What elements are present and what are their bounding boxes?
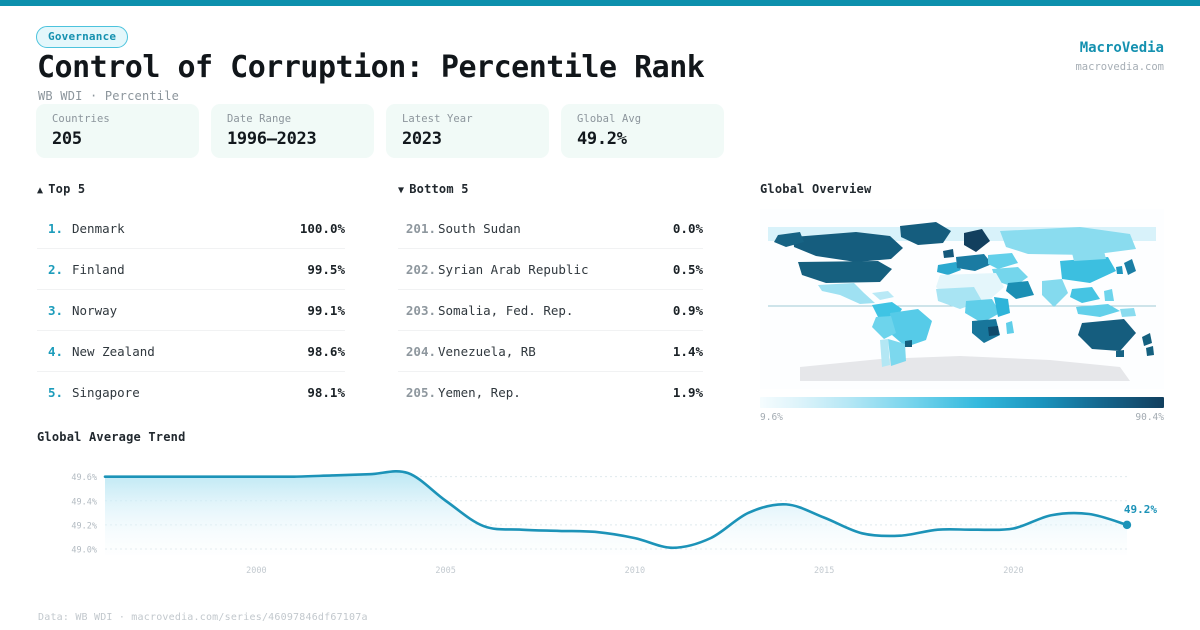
list-item[interactable]: 203. Somalia, Fed. Rep. 0.9% [398,290,703,331]
map-colorbar-labels: 9.6% 90.4% [760,412,1164,423]
country-name: New Zealand [72,344,307,359]
brand-url: macrovedia.com [1075,61,1164,73]
trend-chart-svg: 49.0%49.2%49.4%49.6% 2000200520102015202… [37,455,1167,590]
svg-text:49.2%: 49.2% [71,521,97,531]
colorbar-max-label: 90.4% [1135,412,1164,423]
svg-text:2005: 2005 [435,566,455,576]
country-value: 0.5% [673,262,703,277]
list-item[interactable]: 204. Venezuela, RB 1.4% [398,331,703,372]
bottom-5-panel: ▼Bottom 5 201. South Sudan 0.0% 202. Syr… [398,182,703,412]
svg-text:2000: 2000 [246,566,266,576]
rank-number: 205. [398,385,436,400]
category-badge: Governance [36,26,128,48]
page-subtitle: WB WDI · Percentile [38,89,179,103]
country-name: Norway [72,303,307,318]
top-5-title: Top 5 [48,182,85,196]
country-name: Denmark [72,221,300,236]
list-item[interactable]: 3. Norway 99.1% [37,290,345,331]
bottom-5-rows: 201. South Sudan 0.0% 202. Syrian Arab R… [398,208,703,412]
country-value: 1.4% [673,344,703,359]
country-value: 98.6% [307,344,345,359]
trend-title: Global Average Trend [37,430,1167,444]
rank-number: 1. [37,221,63,236]
bottom-5-heading: ▼Bottom 5 [398,182,703,196]
country-name: Yemen, Rep. [438,385,673,400]
stat-value: 205 [52,129,199,149]
stat-label: Date Range [227,113,374,125]
stat-card-latest-year: Latest Year 2023 [386,104,549,158]
triangle-up-icon: ▲ [37,185,43,196]
brand-logo: MacroVedia [1080,40,1164,56]
country-value: 100.0% [300,221,345,236]
list-item[interactable]: 4. New Zealand 98.6% [37,331,345,372]
list-item[interactable]: 205. Yemen, Rep. 1.9% [398,372,703,412]
top-5-rows: 1. Denmark 100.0% 2. Finland 99.5% 3. No… [37,208,345,412]
rank-number: 5. [37,385,63,400]
triangle-down-icon: ▼ [398,185,404,196]
country-name: Finland [72,262,307,277]
country-value: 98.1% [307,385,345,400]
stat-card-countries: Countries 205 [36,104,199,158]
trend-chart[interactable]: 49.0%49.2%49.4%49.6% 2000200520102015202… [37,455,1167,590]
rank-number: 2. [37,262,63,277]
map-svg [760,209,1164,389]
stat-label: Global Avg [577,113,724,125]
trend-panel: Global Average Trend 49.0%49.2%49.4%49.6… [37,430,1167,590]
country-name: Venezuela, RB [438,344,673,359]
country-value: 0.9% [673,303,703,318]
map-title: Global Overview [760,182,1164,196]
list-item[interactable]: 202. Syrian Arab Republic 0.5% [398,249,703,290]
page-title: Control of Corruption: Percentile Rank [37,50,704,85]
top-5-heading: ▲Top 5 [37,182,345,196]
svg-text:49.4%: 49.4% [71,497,97,507]
rank-number: 202. [398,262,436,277]
chart-end-point [1123,521,1131,529]
footer-text: Data: WB WDI · macrovedia.com/series/460… [38,612,368,623]
svg-text:49.0%: 49.0% [71,545,97,555]
country-value: 99.1% [307,303,345,318]
rank-number: 203. [398,303,436,318]
stat-card-global-avg: Global Avg 49.2% [561,104,724,158]
stat-cards: Countries 205 Date Range 1996–2023 Lates… [36,104,724,158]
rank-number: 3. [37,303,63,318]
country-value: 1.9% [673,385,703,400]
svg-text:2020: 2020 [1003,566,1023,576]
global-overview-panel: Global Overview [760,182,1164,423]
country-name: Syrian Arab Republic [438,262,673,277]
country-name: Somalia, Fed. Rep. [438,303,673,318]
list-item[interactable]: 2. Finland 99.5% [37,249,345,290]
list-item[interactable]: 1. Denmark 100.0% [37,208,345,249]
chart-y-tick-labels: 49.0%49.2%49.4%49.6% [71,473,97,555]
chart-x-tick-labels: 20002005201020152020 [246,566,1024,576]
page-header: Governance Control of Corruption: Percen… [0,6,1200,106]
stat-value: 2023 [402,129,549,149]
world-choropleth-map[interactable] [760,209,1164,389]
stat-label: Countries [52,113,199,125]
country-name: South Sudan [438,221,673,236]
chart-area-fill [105,471,1127,555]
country-name: Singapore [72,385,307,400]
svg-text:2010: 2010 [625,566,645,576]
map-colorbar [760,397,1164,408]
stat-card-date-range: Date Range 1996–2023 [211,104,374,158]
stat-value: 1996–2023 [227,129,374,149]
rank-number: 204. [398,344,436,359]
stat-label: Latest Year [402,113,549,125]
country-value: 0.0% [673,221,703,236]
colorbar-min-label: 9.6% [760,412,783,423]
top-5-panel: ▲Top 5 1. Denmark 100.0% 2. Finland 99.5… [37,182,345,412]
list-item[interactable]: 201. South Sudan 0.0% [398,208,703,249]
svg-text:2015: 2015 [814,566,834,576]
svg-text:49.6%: 49.6% [71,473,97,483]
list-item[interactable]: 5. Singapore 98.1% [37,372,345,412]
rank-number: 4. [37,344,63,359]
bottom-5-title: Bottom 5 [409,182,468,196]
country-value: 99.5% [307,262,345,277]
chart-end-label: 49.2% [1124,503,1157,516]
rank-number: 201. [398,221,436,236]
stat-value: 49.2% [577,129,724,149]
